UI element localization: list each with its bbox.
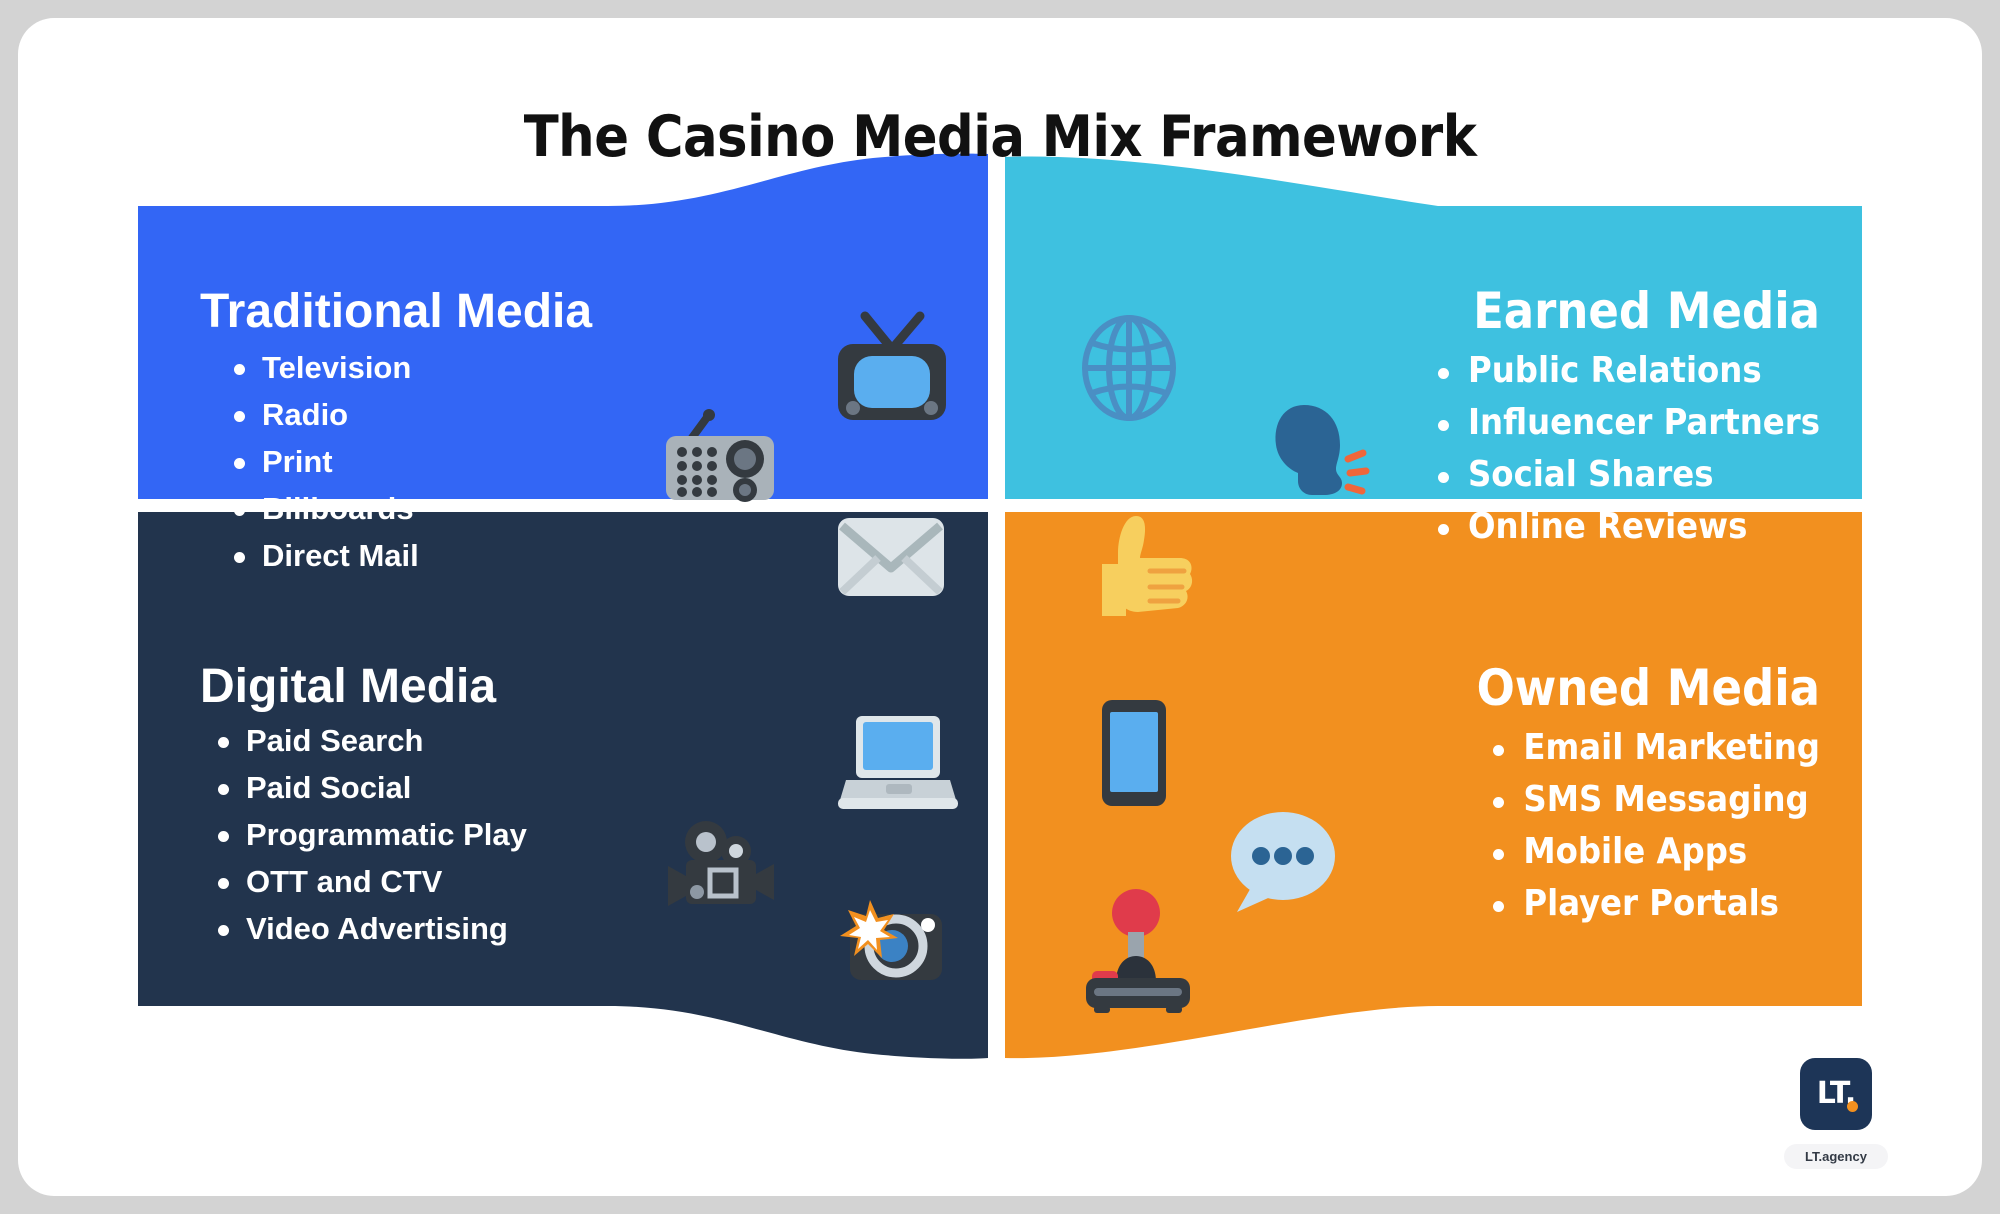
quadrant-traditional-list: Television Radio Print Billboards Direct… — [200, 350, 592, 574]
mobile-phone-icon — [1100, 698, 1168, 808]
logo-tile[interactable]: LT. — [1800, 1058, 1872, 1130]
list-item: Mobile Apps — [1479, 831, 1820, 872]
list-item-label: Paid Search — [246, 723, 423, 758]
list-item: Radio — [200, 397, 592, 433]
list-item-label: Billboards — [262, 491, 414, 526]
bullet-dot — [218, 831, 229, 842]
globe-icon — [1074, 313, 1184, 423]
quadrant-traditional-media: Traditional Media Television Radio Print… — [200, 288, 592, 585]
bullet-dot — [1438, 368, 1449, 379]
bullet-dot — [234, 505, 245, 516]
logo-caption: LT.agency — [1784, 1144, 1888, 1169]
list-item: Direct Mail — [200, 538, 592, 574]
list-item-label: Print — [262, 444, 333, 479]
thumbs-up-icon — [1098, 508, 1203, 618]
list-item: OTT and CTV — [200, 864, 527, 900]
bullet-dot — [1493, 797, 1504, 808]
camera-flash-icon — [836, 898, 956, 988]
bullet-dot — [218, 737, 229, 748]
quadrant-owned-list: Email Marketing SMS Messaging Mobile App… — [1479, 727, 1820, 935]
list-item-label: Email Marketing — [1523, 727, 1820, 768]
list-item: Television — [200, 350, 592, 386]
list-item-label: Social Shares — [1468, 454, 1714, 495]
speaking-head-icon — [1266, 403, 1376, 503]
bullet-dot — [1493, 849, 1504, 860]
list-item-label: OTT and CTV — [246, 864, 442, 899]
list-item: Public Relations — [1424, 350, 1820, 391]
list-item-label: Public Relations — [1468, 350, 1762, 391]
bullet-dot — [1438, 420, 1449, 431]
list-item-label: Radio — [262, 397, 348, 432]
bullet-dot — [218, 878, 229, 889]
quadrant-traditional-heading: Traditional Media — [200, 288, 592, 336]
quadrant-owned-heading: Owned Media — [1477, 663, 1820, 713]
radio-icon — [656, 398, 786, 508]
bullet-dot — [234, 364, 245, 375]
list-item-label: Television — [262, 350, 411, 385]
bullet-dot — [1438, 472, 1449, 483]
list-item: Programmatic Play — [200, 817, 527, 853]
bullet-dot — [234, 552, 245, 563]
quadrant-digital-heading: Digital Media — [200, 663, 527, 711]
logo-accent-dot — [1847, 1101, 1858, 1112]
bullet-dot — [218, 784, 229, 795]
quadrant-digital-media: Digital Media Paid Search Paid Social Pr… — [200, 663, 527, 958]
list-item-label: Programmatic Play — [246, 817, 527, 852]
quadrant-earned-heading: Earned Media — [1424, 286, 1820, 336]
movie-camera-icon — [666, 818, 786, 908]
brand-logo[interactable]: LT. LT.agency — [1766, 1058, 1906, 1169]
laptop-icon — [838, 708, 958, 813]
bullet-dot — [1493, 745, 1504, 756]
envelope-icon — [836, 516, 946, 598]
infographic-card: The Casino Media Mix Framework Tradition… — [18, 18, 1982, 1196]
list-item: Online Reviews — [1424, 506, 1820, 547]
list-item-label: Video Advertising — [246, 911, 508, 946]
list-item: Print — [200, 444, 592, 480]
quadrant-owned-media: Owned Media Email Marketing SMS Messagin… — [1477, 663, 1820, 935]
list-item: Email Marketing — [1479, 727, 1820, 768]
bullet-dot — [218, 925, 229, 936]
bullet-dot — [1493, 901, 1504, 912]
television-icon — [830, 306, 955, 426]
list-item-label: Direct Mail — [262, 538, 419, 573]
joystick-icon — [1078, 888, 1198, 1013]
quadrant-earned-media: Earned Media Public Relations Influencer… — [1424, 286, 1820, 558]
list-item-label: SMS Messaging — [1523, 779, 1808, 820]
list-item: SMS Messaging — [1479, 779, 1820, 820]
list-item: Billboards — [200, 491, 592, 527]
bullet-dot — [1438, 524, 1449, 535]
list-item-label: Player Portals — [1523, 883, 1779, 924]
list-item-label: Influencer Partners — [1468, 402, 1820, 443]
speech-bubble-icon — [1223, 808, 1343, 918]
list-item-label: Online Reviews — [1468, 506, 1747, 547]
list-item: Social Shares — [1424, 454, 1820, 495]
list-item: Paid Social — [200, 770, 527, 806]
list-item-label: Mobile Apps — [1523, 831, 1747, 872]
list-item: Paid Search — [200, 723, 527, 759]
list-item: Video Advertising — [200, 911, 527, 947]
list-item-label: Paid Social — [246, 770, 411, 805]
quadrant-earned-list: Public Relations Influencer Partners Soc… — [1424, 350, 1820, 558]
quadrant-digital-list: Paid Search Paid Social Programmatic Pla… — [200, 723, 527, 947]
bullet-dot — [234, 411, 245, 422]
list-item: Player Portals — [1479, 883, 1820, 924]
page-title: The Casino Media Mix Framework — [18, 104, 1982, 170]
list-item: Influencer Partners — [1424, 402, 1820, 443]
quadrant-shapes — [18, 18, 1982, 1196]
bullet-dot — [234, 458, 245, 469]
